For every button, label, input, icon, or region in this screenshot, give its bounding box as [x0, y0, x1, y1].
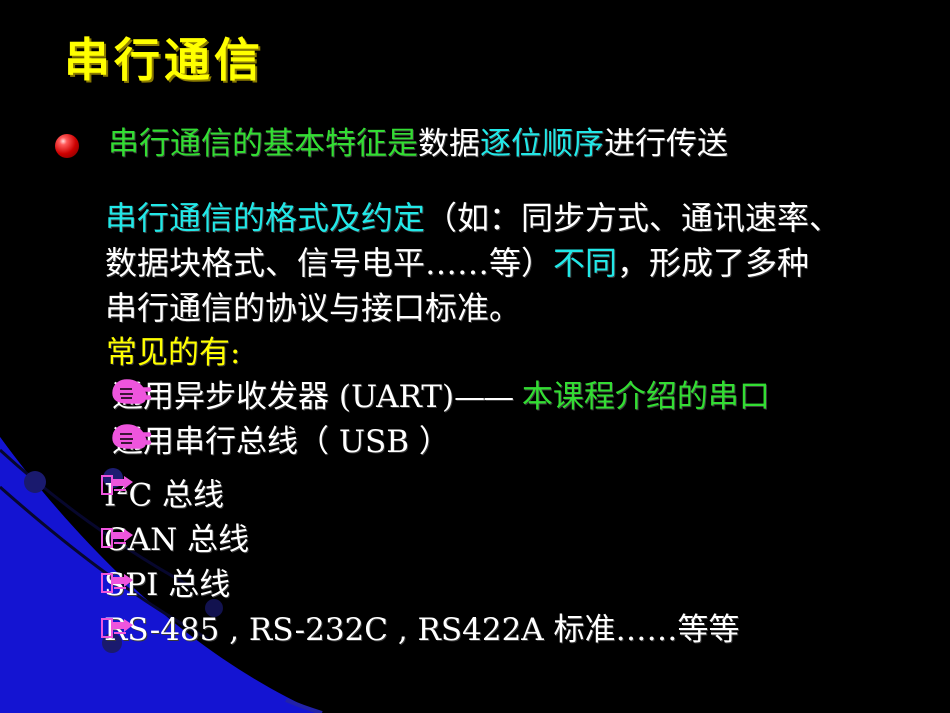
- list-rs-text: RS-485 , RS-232C , RS422A 标准……等等: [104, 612, 740, 648]
- list-item-spi: SPI 总线: [0, 563, 950, 608]
- sub-heading-text: 常见的有:: [106, 335, 240, 371]
- para-1-seg-2: （如：同步方式、通讯速率、: [425, 199, 841, 237]
- vertical-spacer: [0, 168, 950, 196]
- para-2-seg-3: ，形成了多种: [617, 244, 809, 282]
- red-sphere-bullet-icon: [55, 134, 79, 158]
- para-3-seg-1: 串行通信的协议与接口标准。: [105, 289, 521, 327]
- paragraph-line-3: 串行通信的协议与接口标准。: [0, 286, 950, 331]
- list-item-rs-standards: RS-485 , RS-232C , RS422A 标准……等等: [0, 608, 950, 653]
- slide-body: 串行通信的基本特征是数据逐位顺序进行传送 串行通信的格式及约定（如：同步方式、通…: [0, 120, 950, 653]
- list-i2c-seg-3: C 总线: [128, 477, 224, 513]
- slide-canvas: 串行通信 串行通信的基本特征是数据逐位顺序进行传送 串行通信的格式及约定（如：同…: [0, 0, 950, 713]
- page-title: 串行通信: [64, 33, 264, 87]
- list-item-can: CAN 总线: [0, 518, 950, 563]
- pointing-hand-outline-icon: [100, 569, 136, 601]
- pointing-hand-filled-icon: [110, 377, 152, 415]
- list-item-i2c: I2C 总线: [0, 465, 950, 518]
- wedge-tail-line: [286, 700, 322, 713]
- paragraph-line-1: 串行通信的格式及约定（如：同步方式、通讯速率、: [0, 196, 950, 241]
- pointing-hand-outline-icon: [100, 471, 136, 503]
- pointing-hand-outline-icon: [100, 524, 136, 556]
- bullet-1-seg-2: 数据: [418, 126, 480, 162]
- bullet-1-seg-1: 串行通信的基本特征是: [108, 126, 418, 162]
- list-usb-text: 通用串行总线（ USB ）: [112, 424, 450, 460]
- pointing-hand-outline-icon: [100, 614, 136, 646]
- list-item-usb: 通用串行总线（ USB ）: [0, 420, 950, 465]
- list-uart-seg-3: 本课程介绍的串口: [512, 379, 770, 415]
- bullet-1-seg-3: 逐位顺序: [480, 126, 604, 162]
- para-2-seg-2: 不同: [553, 244, 617, 282]
- para-1-seg-1: 串行通信的格式及约定: [105, 199, 425, 237]
- list-uart-dash: ——: [454, 379, 512, 415]
- bullet-item-1: 串行通信的基本特征是数据逐位顺序进行传送: [0, 120, 950, 168]
- pointing-hand-filled-icon: [110, 422, 152, 460]
- para-2-seg-1: 数据块格式、信号电平……等）: [105, 244, 553, 282]
- list-uart-seg-1: 通用异步收发器 (UART): [112, 379, 454, 415]
- bullet-1-seg-4: 进行传送: [604, 126, 728, 162]
- list-item-uart: 通用异步收发器 (UART)—— 本课程介绍的串口: [0, 375, 950, 420]
- paragraph-line-2: 数据块格式、信号电平……等）不同，形成了多种: [0, 241, 950, 286]
- sub-heading-line: 常见的有:: [0, 331, 950, 375]
